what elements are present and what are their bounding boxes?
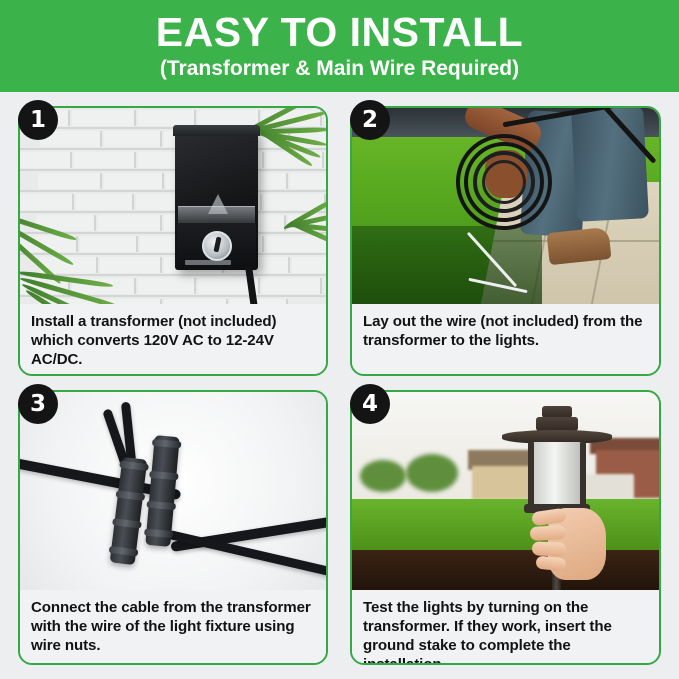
transformer-label <box>185 260 231 265</box>
brick-wall-background <box>20 108 326 304</box>
soil-cross-section <box>352 550 659 590</box>
step-panel-1: Install a transformer (not included) whi… <box>18 106 328 376</box>
lawn-shadow <box>352 226 542 304</box>
lamp-post-left <box>528 442 534 508</box>
tree-left <box>360 460 406 492</box>
steps-grid: Install a transformer (not included) whi… <box>0 92 679 679</box>
step-badge-2: 2 <box>350 100 390 140</box>
page-title: EASY TO INSTALL <box>156 11 523 54</box>
step-3-photo <box>20 392 326 590</box>
step-badge-4: 4 <box>350 384 390 424</box>
step-badge-1: 1 <box>18 100 58 140</box>
step-1-caption: Install a transformer (not included) whi… <box>20 304 326 374</box>
header-banner: EASY TO INSTALL (Transformer & Main Wire… <box>0 0 679 92</box>
path-light-fixture <box>502 406 612 522</box>
transformer-shelf <box>178 206 255 223</box>
finger-middle <box>530 525 567 541</box>
palm-frond-bottom-left <box>20 204 152 304</box>
transformer-top-cover <box>173 125 260 136</box>
transformer-timer-dial <box>202 231 232 261</box>
lamp-glass-diffuser <box>532 442 582 506</box>
person-leg-back <box>571 108 649 222</box>
finger-ring <box>532 541 566 556</box>
transformer-unit <box>175 130 258 270</box>
step-panel-3: Connect the cable from the transformer w… <box>18 390 328 665</box>
step-2-caption: Lay out the wire (not included) from the… <box>352 304 659 374</box>
step-panel-2: Lay out the wire (not included) from the… <box>350 106 661 376</box>
lamp-collar <box>536 417 578 431</box>
step-panel-4: Test the lights by turning on the transf… <box>350 390 661 665</box>
wire-coil-core <box>482 160 526 204</box>
step-badge-3: 3 <box>18 384 58 424</box>
page-subtitle: (Transformer & Main Wire Required) <box>160 57 519 80</box>
step-4-photo <box>352 392 659 590</box>
palm-frond-right <box>270 192 326 262</box>
person-shoe <box>546 227 611 265</box>
step-3-caption: Connect the cable from the transformer w… <box>20 590 326 663</box>
install-instructions-page: EASY TO INSTALL (Transformer & Main Wire… <box>0 0 679 679</box>
tree-mid <box>406 454 458 492</box>
step-2-photo <box>352 108 659 304</box>
step-4-caption: Test the lights by turning on the transf… <box>352 590 659 663</box>
step-1-photo <box>20 108 326 304</box>
transformer-control-panel <box>177 223 256 270</box>
lamp-post-right <box>580 442 586 508</box>
